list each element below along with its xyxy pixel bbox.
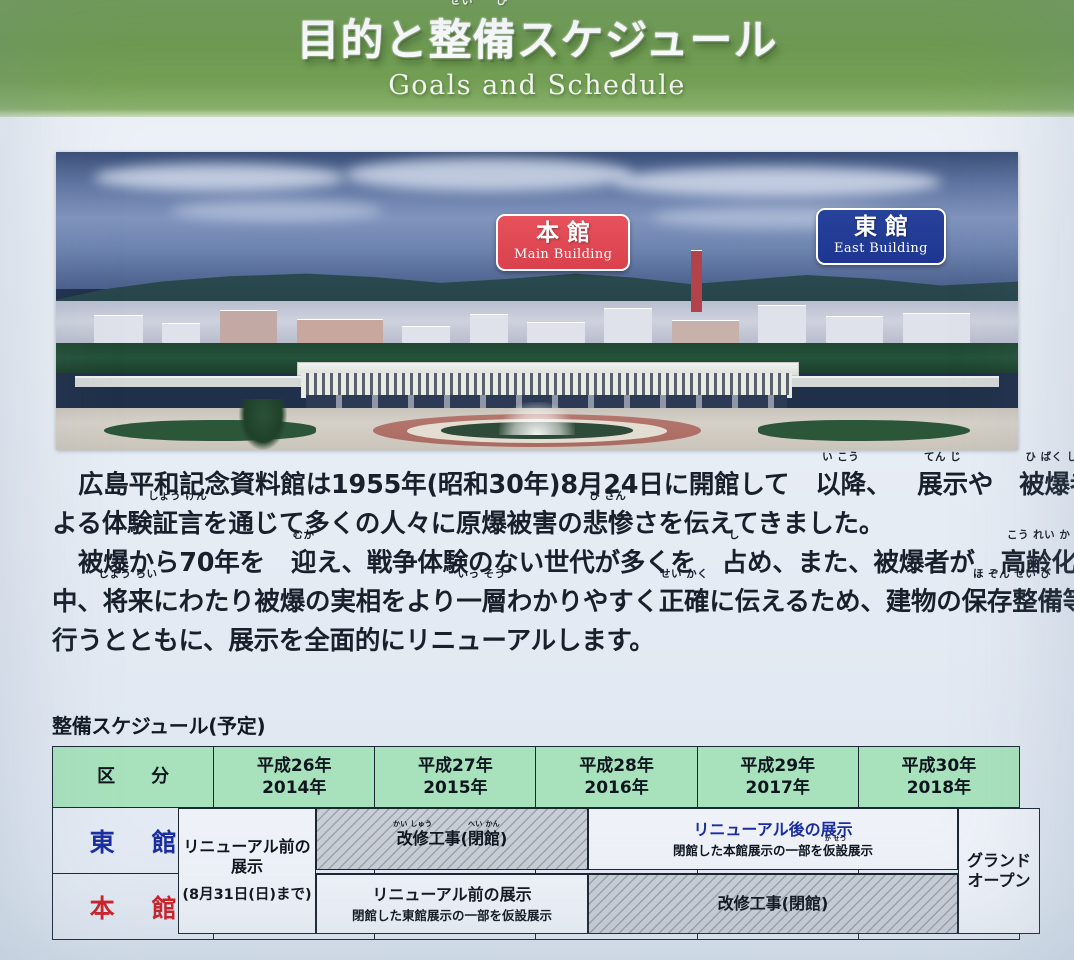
- hedge-right: [758, 420, 970, 441]
- ruby-seikaku: せい かく正確: [659, 583, 710, 622]
- column-header-2018-western: 2018年: [860, 777, 1018, 799]
- ruby-shougen: しょう げん証言: [152, 505, 203, 544]
- cloud-shape: [94, 164, 344, 191]
- title-furigana-sei: せい: [450, 0, 474, 8]
- ruby-ikou: い こう以降: [789, 466, 866, 505]
- column-header-2016-western: 2016年: [537, 777, 695, 799]
- bar-east-construction-label: かい しゅう改修工事(へい かん閉館): [397, 829, 508, 849]
- ruby-hozonseibi: ほ ぞん せい び保存整備: [962, 583, 1063, 622]
- museum-photo: 本館 Main Building 東館 East Building: [56, 152, 1018, 450]
- column-header-2015-jp: 平成27年: [376, 755, 534, 777]
- body-text: 広島平和記念資料館は1955年(昭和30年)8月24日に開館してい こう以降、て…: [52, 466, 1030, 661]
- column-header-2016-jp: 平成28年: [537, 755, 695, 777]
- bar-main-construction: 改修工事(閉館): [588, 874, 958, 934]
- bar-main-construction-label: 改修工事(閉館): [718, 894, 829, 914]
- table-header-row: 区 分 平成26年 2014年 平成27年 2015年 平成28年 2016年 …: [53, 747, 1020, 808]
- ruby-issou: いっ そう一層: [456, 583, 507, 622]
- label-east-building: 東館 East Building: [816, 208, 946, 265]
- title-furigana-bi: び: [497, 0, 509, 8]
- cloud-shape: [171, 200, 383, 221]
- bar-main-pre-renewal-line2: 閉館した東館展示の一部を仮設展示: [352, 908, 552, 924]
- bar-east-post-renewal: リニューアル後の展示 閉館した本館展示の一部をか せつ仮設展示: [588, 808, 958, 870]
- page-title-japanese: せい び 目的と整備スケジュール: [297, 6, 778, 68]
- ruby-kaishuu: かい しゅう改修: [397, 829, 429, 849]
- page-title-english: Goals and Schedule: [0, 70, 1074, 101]
- page-title-text: 目的と整備スケジュール: [297, 16, 778, 66]
- ruby-muka: むか迎: [265, 544, 316, 583]
- bar-grand-open-line1: グランド: [967, 851, 1031, 871]
- schedule-label: 整備スケジュール(予定): [52, 710, 265, 739]
- slide-page: せい び 目的と整備スケジュール Goals and Schedule: [0, 0, 1074, 960]
- bar-grand-open: グランド オープン: [958, 808, 1040, 934]
- column-header-2017: 平成29年 2017年: [697, 747, 858, 808]
- bar-grand-open-line2: オープン: [967, 871, 1030, 891]
- fountain-water: [499, 402, 576, 435]
- label-east-building-en: East Building: [834, 241, 928, 256]
- paragraph-line-4: 中、しょう らい将来にわたり被爆の実相をよりいっ そう一層わかりやすくせい かく…: [52, 583, 1030, 622]
- bar-pre-renewal-line1: リニューアル前の: [183, 837, 310, 857]
- label-main-building-en: Main Building: [514, 247, 612, 262]
- ruby-tenji: てん じ展示: [891, 466, 968, 505]
- title-band: せい び 目的と整備スケジュール Goals and Schedule: [0, 0, 1074, 117]
- conifer-tree: [239, 399, 287, 450]
- column-header-2014-jp: 平成26年: [215, 755, 373, 777]
- column-header-2018: 平成30年 2018年: [858, 747, 1019, 808]
- column-header-2014: 平成26年 2014年: [214, 747, 375, 808]
- title-wrap: せい び 目的と整備スケジュール Goals and Schedule: [0, 6, 1074, 101]
- gantt-bars: リニューアル前の 展示 (8月31日(日)まで) かい しゅう改修工事(へい か…: [160, 804, 1018, 938]
- ruby-hibakusha: ひ ばく しゃ被爆者: [993, 466, 1074, 505]
- ruby-kasetsu: か せつ仮設: [823, 843, 848, 859]
- bar-main-pre-renewal: リニューアル前の展示 閉館した東館展示の一部を仮設展示: [316, 874, 588, 934]
- ruby-shourai: しょう らい将来: [103, 583, 154, 622]
- ruby-hisan: ひ さん悲惨: [583, 505, 634, 544]
- column-header-2016: 平成28年 2016年: [536, 747, 697, 808]
- label-east-building-jp: 東館: [834, 215, 928, 240]
- column-header-2018-jp: 平成30年: [860, 755, 1018, 777]
- schedule-table-wrap: 区 分 平成26年 2014年 平成27年 2015年 平成28年 2016年 …: [52, 746, 1020, 940]
- column-header-2015-western: 2015年: [376, 777, 534, 799]
- paragraph-line-5: 行うとともに、展示を全面的にリニューアルします。: [52, 622, 1030, 661]
- bar-pre-renewal-line2: 展示: [231, 857, 263, 877]
- cloud-shape: [614, 167, 941, 197]
- title-furigana-row: せい び: [297, 0, 778, 6]
- bar-east-construction: かい しゅう改修工事(へい かん閉館): [316, 808, 588, 870]
- label-main-building: 本館 Main Building: [496, 214, 630, 271]
- ruby-heikan: へい かん閉館: [468, 829, 500, 849]
- bar-east-post-renewal-line2: 閉館した本館展示の一部をか せつ仮設展示: [673, 843, 873, 859]
- paragraph-line-3: 被爆から70年をむか迎え、戦争体験のない世代が多くをし占め、また、被爆者がこう …: [52, 544, 1030, 583]
- bar-main-pre-renewal-line1: リニューアル前の展示: [372, 885, 531, 905]
- paragraph-line-2: よる体験しょう げん証言を通じて多くの人々に原爆被害のひ さん悲惨さを伝えてきま…: [52, 505, 1030, 544]
- column-header-2014-western: 2014年: [215, 777, 373, 799]
- cloud-shape: [345, 158, 634, 191]
- museum-east-wing: [768, 376, 999, 388]
- column-header-2017-jp: 平成29年: [699, 755, 857, 777]
- label-main-building-jp: 本館: [514, 221, 612, 246]
- column-header-2015: 平成27年 2015年: [375, 747, 536, 808]
- column-header-kubun: 区 分: [53, 747, 214, 808]
- bar-pre-renewal-shared: リニューアル前の 展示 (8月31日(日)まで): [178, 808, 316, 934]
- museum-west-wing: [75, 376, 306, 388]
- bar-pre-renewal-note: (8月31日(日)まで): [182, 886, 311, 904]
- column-header-2017-western: 2017年: [699, 777, 857, 799]
